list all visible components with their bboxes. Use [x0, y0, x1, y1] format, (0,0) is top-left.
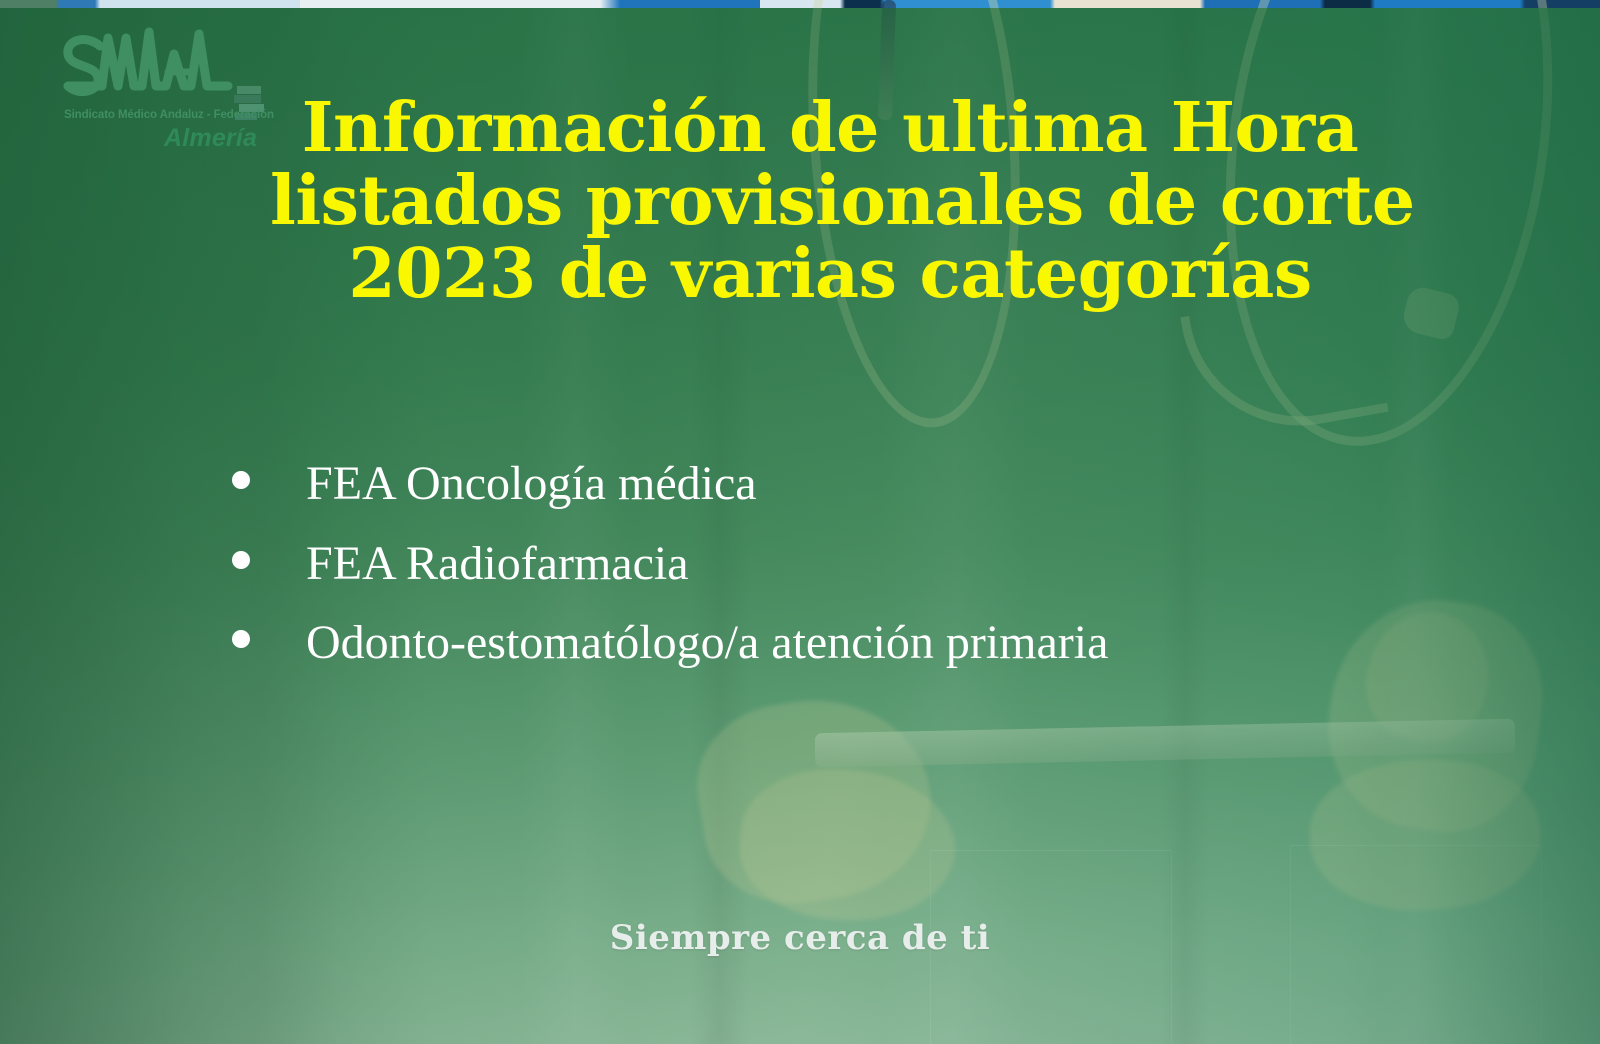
list-item-label: FEA Oncología médica — [306, 444, 757, 524]
slide-content: Sindicato Médico Andaluz - Federación Al… — [0, 0, 1600, 1044]
logo-city-label: Almería — [164, 124, 257, 153]
list-item: FEA Radiofarmacia — [232, 524, 1532, 604]
page-title: Información de ultima Hora listados prov… — [270, 92, 1390, 312]
list-item: FEA Oncología médica — [232, 444, 1532, 524]
slide-canvas: Sindicato Médico Andaluz - Federación Al… — [0, 0, 1600, 1044]
logo-subtitle: Sindicato Médico Andaluz - Federación — [64, 109, 264, 121]
bullet-dot-icon — [232, 551, 250, 569]
list-item-label: Odonto-estomatólogo/a atención primaria — [306, 603, 1108, 683]
footer-tagline: Siempre cerca de ti — [0, 918, 1600, 958]
title-line-3: 2023 de varias categorías — [270, 238, 1390, 311]
title-line-1: Información de ultima Hora — [270, 92, 1390, 165]
bullet-dot-icon — [232, 630, 250, 648]
category-list: FEA Oncología médica FEA Radiofarmacia O… — [232, 444, 1532, 683]
list-item: Odonto-estomatólogo/a atención primaria — [232, 603, 1532, 683]
list-item-label: FEA Radiofarmacia — [306, 524, 689, 604]
title-line-2: listados provisionales de corte — [270, 165, 1390, 238]
bullet-dot-icon — [232, 471, 250, 489]
sma-logo: Sindicato Médico Andaluz - Federación Al… — [56, 24, 271, 146]
